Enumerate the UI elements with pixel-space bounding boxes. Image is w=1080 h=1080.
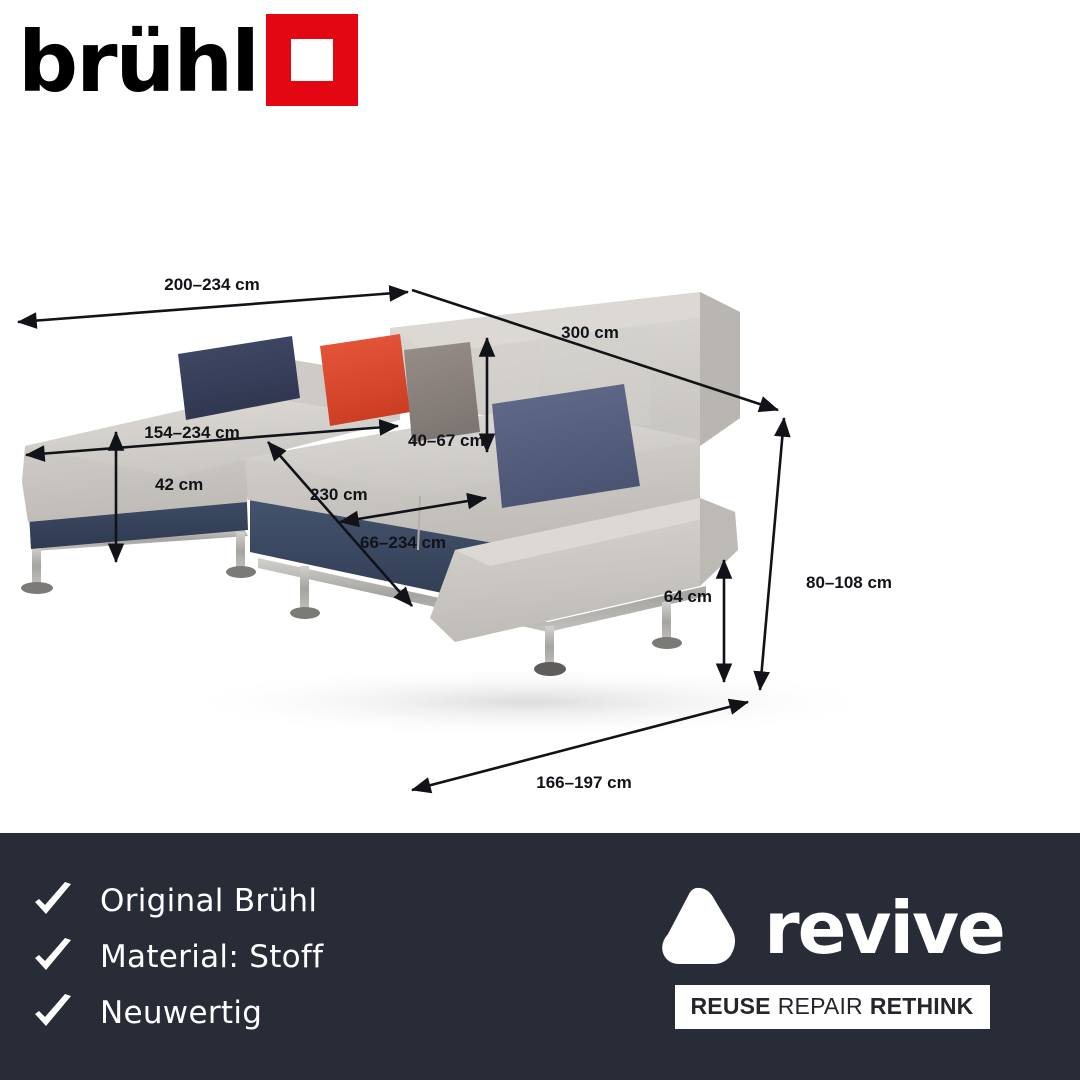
chrome-leg-chaise-rear xyxy=(236,532,245,570)
check-icon xyxy=(32,992,74,1034)
dim-label-total-height: 80–108 cm xyxy=(806,573,892,592)
right-armrest-side xyxy=(700,498,738,586)
tagline-word-rethink: RETHINK xyxy=(870,993,974,1020)
foot-disc-main-front xyxy=(290,607,320,619)
dim-label-seat-height: 42 cm xyxy=(155,475,203,494)
dim-label-chaise-length: 154–234 cm xyxy=(144,423,239,442)
feature-item-original: Original Brühl xyxy=(32,880,620,922)
feature-label-material: Material: Stoff xyxy=(100,939,323,975)
feature-label-condition: Neuwertig xyxy=(100,995,262,1031)
brand-square-icon xyxy=(266,14,358,106)
dim-line-total-height xyxy=(760,418,784,690)
foot-disc-main-mid xyxy=(534,662,566,676)
dim-label-backrest-height: 40–67 cm xyxy=(408,431,485,450)
revive-logo: revive REUSE REPAIR RETHINK xyxy=(620,885,1080,1029)
dim-label-armrest-height: 64 cm xyxy=(664,587,712,606)
main-backrest-side xyxy=(700,292,740,446)
cushion-blue-main xyxy=(492,384,640,508)
floor-shadow xyxy=(170,666,890,738)
dim-line-overall-width-left xyxy=(18,292,408,322)
dim-label-overall-width-left: 200–234 cm xyxy=(164,275,259,294)
chrome-leg-main-front xyxy=(300,566,309,612)
brand-square-inner xyxy=(291,39,333,81)
brand-wordmark: brühl xyxy=(18,24,258,101)
revive-leaf-mark-icon xyxy=(660,885,746,971)
feature-item-condition: Neuwertig xyxy=(32,992,620,1034)
tagline-word-repair: REPAIR xyxy=(778,993,863,1020)
cushion-taupe xyxy=(404,342,480,442)
tagline-word-reuse: REUSE xyxy=(690,993,770,1020)
dim-label-side-depth: 166–197 cm xyxy=(536,773,631,792)
info-banner: Original Brühl Material: Stoff Neuwertig… xyxy=(0,833,1080,1080)
feature-list: Original Brühl Material: Stoff Neuwertig xyxy=(0,880,620,1034)
revive-tagline: REUSE REPAIR RETHINK xyxy=(675,985,990,1029)
dim-label-overall-depth-right: 300 cm xyxy=(561,323,619,342)
check-icon xyxy=(32,880,74,922)
check-icon xyxy=(32,936,74,978)
chrome-leg-main-rear xyxy=(662,602,671,642)
foot-disc-main-rear xyxy=(652,637,682,649)
product-illustration: 200–234 cm 300 cm 154–234 cm 42 cm 40–67… xyxy=(0,250,1080,830)
chrome-leg-chaise-front xyxy=(32,546,41,586)
brand-logo: brühl xyxy=(18,14,358,112)
foot-disc-chaise-rear xyxy=(226,566,256,578)
feature-item-material: Material: Stoff xyxy=(32,936,620,978)
chrome-leg-main-mid xyxy=(545,626,554,668)
foot-disc-chaise-front xyxy=(21,582,53,594)
feature-label-original: Original Brühl xyxy=(100,883,317,919)
revive-wordmark: revive xyxy=(764,892,1004,964)
revive-lockup: revive xyxy=(660,885,1004,971)
sofa-main-section xyxy=(245,292,740,676)
dim-label-seat-width: 66–234 cm xyxy=(360,533,446,552)
cushion-orange xyxy=(320,334,410,426)
dim-label-seat-depth-diagonal: 230 cm xyxy=(310,485,368,504)
